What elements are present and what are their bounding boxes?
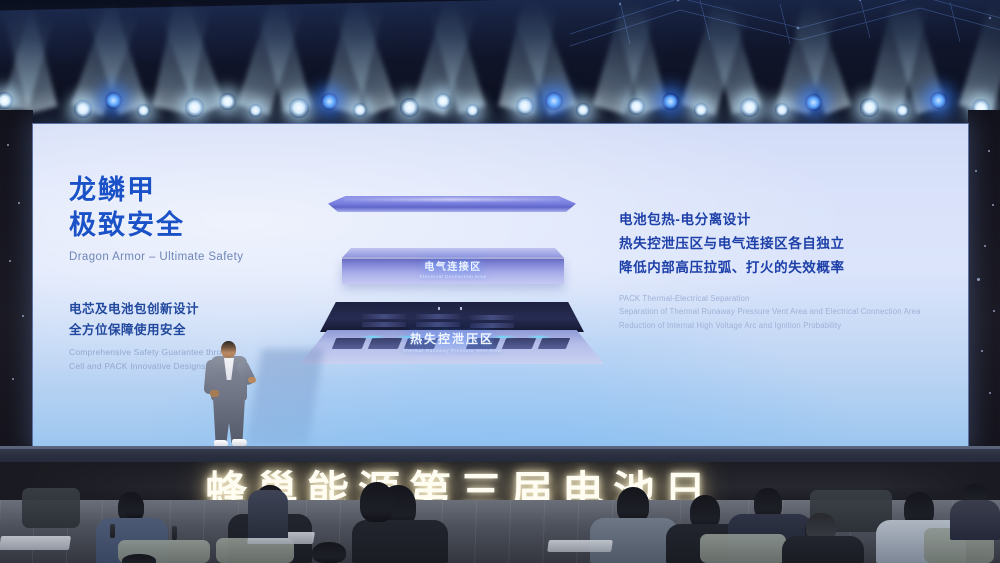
audience-body — [782, 536, 864, 563]
conference-stage-scene: 龙鳞甲 极致安全 Dragon Armor – Ultimate Safety … — [0, 0, 1000, 563]
slide-right-cn: 电池包热-电分离设计 热失控泄压区与电气连接区各自独立 降低内部高压拉弧、打火的… — [619, 208, 939, 280]
battery-pack-exploded-diagram: 电气连接区 Electrical Connection Area — [286, 190, 616, 430]
stage-spotlight — [249, 104, 262, 117]
stage-spotlight — [628, 98, 645, 115]
wall-left — [0, 110, 33, 460]
stage-spotlight — [576, 103, 590, 117]
stage-spotlight — [137, 104, 150, 117]
slide-right-en-line3: Reduction of Internal High Voltage Arc a… — [619, 319, 939, 332]
presenter-left-hand — [210, 390, 219, 397]
stage-spotlight — [896, 104, 909, 117]
stage-spotlight-blue — [321, 93, 338, 110]
electrical-connection-label-cn: 电气连接区 — [342, 258, 564, 273]
battery-pack-cover-layer — [328, 196, 576, 212]
stage-deck-edge — [0, 446, 1000, 449]
stage-spotlight — [353, 103, 367, 117]
presenter-head — [221, 341, 236, 358]
stage-spotlight — [740, 98, 759, 117]
thermal-vent-label-en: Thermal Runaway Pressure Vent Area — [300, 348, 604, 353]
presenter-right-shoe — [232, 439, 247, 446]
thermal-vent-top-plate — [320, 302, 584, 332]
thermal-vent-layer: 热失控泄压区 Thermal Runaway Pressure Vent Are… — [300, 302, 604, 374]
water-bottle — [110, 524, 115, 538]
stage-spotlight — [466, 104, 479, 117]
audience-body — [248, 490, 288, 538]
stage-spotlight — [775, 103, 789, 117]
audience-table — [0, 536, 71, 550]
audience-body — [950, 500, 1000, 540]
stage-spotlight — [219, 93, 236, 110]
stage-spotlight — [400, 98, 419, 117]
stage-spotlight — [0, 92, 13, 109]
audience-head — [122, 554, 156, 563]
truss-mesh-icon — [560, 0, 1000, 54]
presenter-legs — [213, 397, 245, 443]
stage-spotlight — [435, 93, 451, 109]
presenter-speaker — [200, 341, 260, 449]
ceiling-lighting-rig — [0, 0, 1000, 135]
slide-right-cn-line3: 降低内部高压拉弧、打火的失效概率 — [619, 256, 939, 280]
wall-right — [968, 110, 1000, 460]
audience-table — [547, 540, 613, 552]
audience-head — [124, 496, 144, 518]
slide-right-en-line1: PACK Thermal-Electrical Separation — [619, 292, 939, 305]
slide-right-en-line2: Separation of Thermal Runaway Pressure V… — [619, 305, 939, 318]
stage-spotlight — [860, 98, 879, 117]
slide-right-en: PACK Thermal-Electrical Separation Separ… — [619, 292, 939, 332]
stage-spotlight — [516, 97, 534, 115]
stage-spotlight — [694, 103, 708, 117]
slide-right-cn-line1: 电池包热-电分离设计 — [619, 208, 939, 232]
slide-right-cn-line2: 热失控泄压区与电气连接区各自独立 — [619, 232, 939, 256]
stage-spotlight — [74, 100, 92, 118]
thermal-vent-label: 热失控泄压区 Thermal Runaway Pressure Vent Are… — [300, 330, 604, 353]
presenter-right-hand — [248, 377, 256, 383]
stage-spotlight-blue — [930, 92, 947, 109]
thermal-vent-label-cn: 热失控泄压区 — [300, 330, 604, 347]
electrical-connection-label-en: Electrical Connection Area — [342, 274, 564, 279]
audience-head — [360, 482, 394, 522]
stage-spotlight — [289, 98, 309, 118]
audience-body — [352, 520, 448, 563]
stage-spotlight-blue — [105, 92, 122, 109]
slide-right-text-block: 电池包热-电分离设计 热失控泄压区与电气连接区各自独立 降低内部高压拉弧、打火的… — [619, 208, 939, 332]
led-presentation-screen: 龙鳞甲 极致安全 Dragon Armor – Ultimate Safety … — [33, 124, 968, 448]
electrical-connection-layer: 电气连接区 Electrical Connection Area — [342, 248, 564, 284]
stage-spotlight-blue — [662, 93, 679, 110]
audience-head — [312, 542, 346, 563]
water-bottle — [172, 526, 177, 540]
stage-spotlight-blue — [545, 92, 563, 110]
audience-chair — [22, 488, 80, 528]
stage-spotlight-blue — [805, 94, 822, 111]
electrical-connection-label: 电气连接区 Electrical Connection Area — [342, 258, 564, 279]
audience-chair — [700, 534, 786, 563]
stage-spotlight — [185, 98, 204, 117]
